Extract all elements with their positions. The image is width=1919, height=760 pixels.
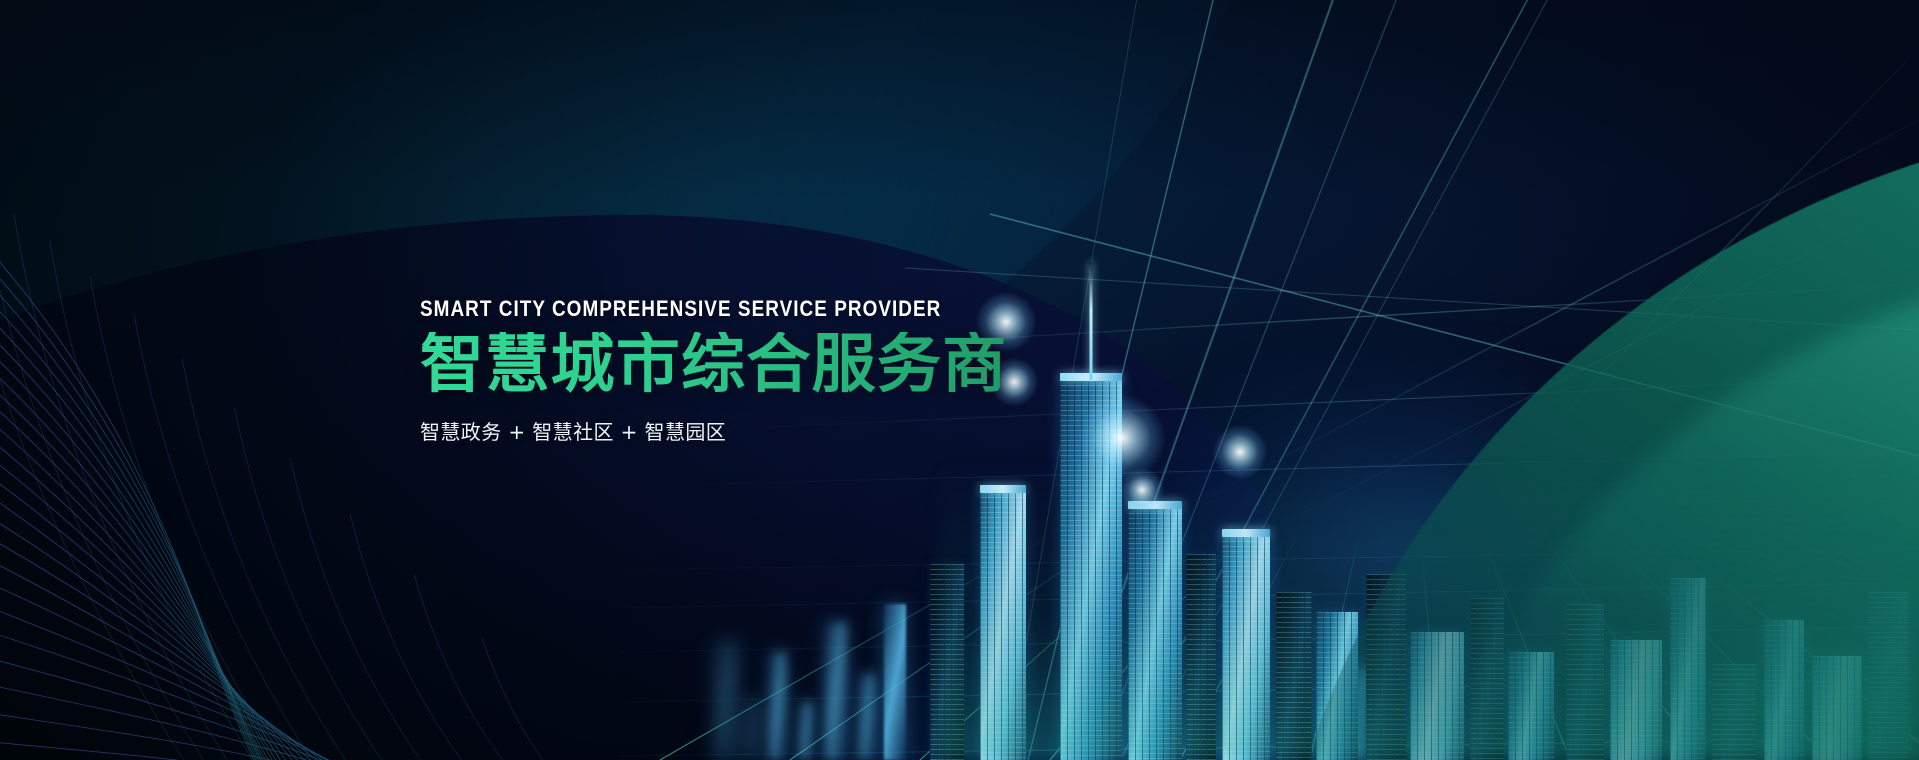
bar-3 — [770, 652, 786, 760]
page-title: 智慧城市综合服务商 — [420, 332, 1180, 400]
tagline-text: 智慧政务 + 智慧社区 + 智慧园区 — [420, 416, 1180, 445]
bar-4 — [800, 702, 812, 760]
bar-5 — [826, 622, 846, 760]
bar-1 — [718, 642, 734, 760]
bar-7 — [884, 604, 906, 760]
hero-copy-block: SMART CITY COMPREHENSIVE SERVICE PROVIDE… — [420, 296, 1180, 445]
smart-city-hero-banner: SMART CITY COMPREHENSIVE SERVICE PROVIDE… — [0, 0, 1919, 760]
bar-6 — [860, 674, 874, 760]
green-bottom-glow — [939, 460, 1919, 760]
bar-2 — [748, 698, 758, 760]
eyebrow-text: SMART CITY COMPREHENSIVE SERVICE PROVIDE… — [420, 296, 1074, 322]
